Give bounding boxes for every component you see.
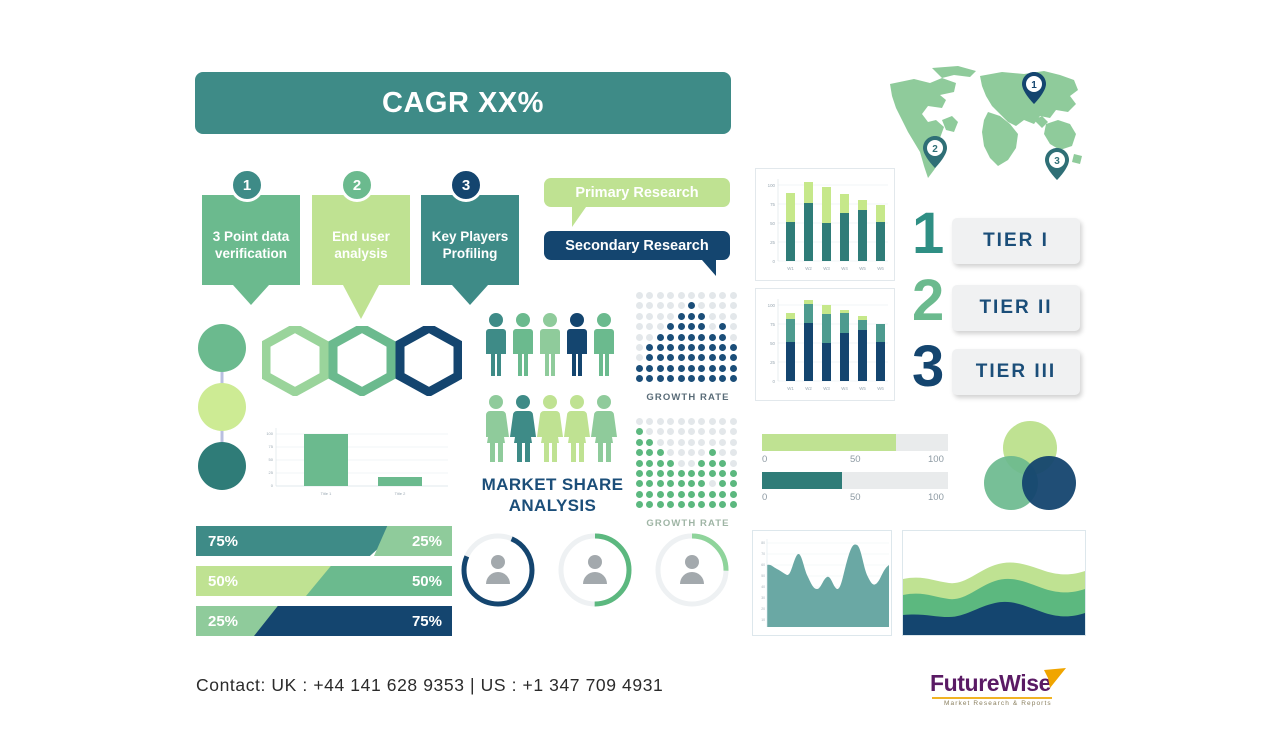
growth-dot-empty <box>730 428 737 435</box>
growth-dot-filled <box>667 501 674 508</box>
growth-dot-empty <box>698 292 705 299</box>
growth-dot-empty <box>709 428 716 435</box>
growth-dot-filled <box>657 491 664 498</box>
venn-circle-3 <box>1022 456 1076 510</box>
growth-dot-filled <box>719 365 726 372</box>
step-badge-1-number: 1 <box>243 177 251 194</box>
svg-text:W5: W5 <box>859 266 866 271</box>
growth-dot-empty <box>636 344 643 351</box>
growth-dot-empty <box>678 302 685 309</box>
person-female-icon-3 <box>537 395 563 462</box>
growth-dot-filled <box>646 501 653 508</box>
growth-dot-filled <box>688 480 695 487</box>
cagr-banner-title: CAGR XX% <box>382 87 544 120</box>
growth-dot-filled <box>719 470 726 477</box>
growth-dot-filled <box>688 365 695 372</box>
growth-dot-empty <box>688 292 695 299</box>
growth-dot-filled <box>709 501 716 508</box>
growth-dot-filled <box>667 354 674 361</box>
growth-dot-empty <box>709 439 716 446</box>
person-male-icon-2 <box>513 313 533 376</box>
svg-text:60: 60 <box>761 563 765 567</box>
svg-text:25: 25 <box>770 360 775 365</box>
market-share-title-line1: MARKET SHARE <box>470 474 635 495</box>
tier-3-number: 3 <box>912 338 944 396</box>
slider-2-track[interactable] <box>762 472 948 489</box>
secondary-research-bubble-tail <box>702 260 716 276</box>
growth-dot-filled <box>667 375 674 382</box>
growth-dot-empty <box>636 323 643 330</box>
svg-text:50: 50 <box>269 457 274 462</box>
growth-dot-filled <box>657 460 664 467</box>
growth-dot-empty <box>719 302 726 309</box>
growth-dot-empty <box>709 418 716 425</box>
growth-dot-empty <box>636 292 643 299</box>
growth-dot-empty <box>719 428 726 435</box>
svg-text:0: 0 <box>773 379 776 384</box>
growth-dot-filled <box>698 491 705 498</box>
stacked-bar-chart-bottom: 02550 75100 W1W2W3 W4W5W6 <box>755 288 895 401</box>
growth-dot-filled <box>667 470 674 477</box>
svg-text:75: 75 <box>269 444 274 449</box>
person-female-icon-5 <box>591 395 617 462</box>
growth-dot-filled <box>730 344 737 351</box>
person-female-icon-1 <box>486 395 509 462</box>
step-card-1-label: 3 Point data verification <box>202 229 300 263</box>
growth-dot-filled <box>730 365 737 372</box>
svg-text:75: 75 <box>770 202 775 207</box>
growth-dot-filled <box>657 470 664 477</box>
percent-bar-1-right: 25% <box>374 526 452 556</box>
stacked-bar-chart-top: 02550 75100 W1W2W3 W4W5W6 <box>755 168 895 281</box>
small-bar-chart: 02550 75100 Title 1Title 2 <box>258 420 452 502</box>
growth-dot-empty <box>646 292 653 299</box>
growth-dot-filled <box>646 460 653 467</box>
growth-dot-filled <box>678 334 685 341</box>
growth-dot-empty <box>730 313 737 320</box>
growth-dot-filled <box>657 501 664 508</box>
slider-1-tick-min: 0 <box>762 454 767 465</box>
venn-diagram <box>980 420 1080 516</box>
growth-dot-filled <box>719 375 726 382</box>
growth-dot-empty <box>667 292 674 299</box>
tier-1-plate[interactable]: TIER I <box>952 218 1080 264</box>
growth-dot-filled <box>709 449 716 456</box>
donut-1 <box>458 530 538 610</box>
growth-dot-filled <box>709 365 716 372</box>
growth-dot-filled <box>678 354 685 361</box>
hexagon-3-icon <box>400 328 458 392</box>
percent-bar-row-3: 25% 75% <box>196 606 442 636</box>
svg-text:25: 25 <box>770 240 775 245</box>
growth-dot-filled <box>698 313 705 320</box>
growth-dot-filled <box>646 480 653 487</box>
growth-dot-filled <box>688 501 695 508</box>
growth-dot-filled <box>646 491 653 498</box>
growth-dot-filled <box>688 344 695 351</box>
growth-dot-filled <box>678 313 685 320</box>
step-card-1[interactable]: 3 Point data verification <box>202 195 300 305</box>
tier-3-label: TIER III <box>976 361 1056 383</box>
secondary-research-bubble[interactable]: Secondary Research <box>544 231 730 260</box>
growth-dot-empty <box>698 428 705 435</box>
step-card-1-tail <box>233 285 269 305</box>
growth-dot-filled <box>646 439 653 446</box>
svg-text:30: 30 <box>761 596 765 600</box>
growth-dot-filled <box>719 501 726 508</box>
growth-dot-empty <box>678 449 685 456</box>
slider-group: 0 50 100 0 50 100 <box>762 434 948 500</box>
growth-dot-filled <box>698 470 705 477</box>
growth-dot-filled <box>636 470 643 477</box>
growth-dot-filled <box>688 334 695 341</box>
growth-dot-filled <box>730 354 737 361</box>
step-badge-1: 1 <box>230 168 264 202</box>
growth-dot-filled <box>646 375 653 382</box>
percent-bar-1-left-value: 75% <box>208 533 238 550</box>
svg-text:10: 10 <box>761 618 765 622</box>
percent-bar-3-right-value: 75% <box>412 613 442 630</box>
logo-swoosh-icon <box>1042 668 1068 690</box>
svg-text:70: 70 <box>761 552 765 556</box>
growth-dot-empty <box>688 428 695 435</box>
growth-dot-empty <box>657 292 664 299</box>
area-chart-teal: 807060 504030 2010 <box>752 530 892 636</box>
svg-text:50: 50 <box>761 574 765 578</box>
growth-dot-empty <box>657 302 664 309</box>
growth-dot-filled <box>719 460 726 467</box>
growth-dot-filled <box>678 323 685 330</box>
person-female-icon-4 <box>564 395 590 462</box>
slider-2-fill <box>762 472 842 489</box>
growth-dot-empty <box>667 439 674 446</box>
growth-dot-empty <box>667 418 674 425</box>
growth-dot-filled <box>646 470 653 477</box>
growth-dot-filled <box>667 365 674 372</box>
stacked-bar-chart-top-svg: 02550 75100 W1W2W3 W4W5W6 <box>756 169 894 280</box>
growth-dot-filled <box>719 323 726 330</box>
growth-dot-filled <box>688 323 695 330</box>
small-bar-1 <box>304 434 348 486</box>
growth-dot-empty <box>646 302 653 309</box>
growth-dot-filled <box>657 365 664 372</box>
growth-dot-empty <box>698 449 705 456</box>
svg-text:80: 80 <box>761 541 765 545</box>
growth-dot-empty <box>730 449 737 456</box>
growth-dot-empty <box>678 292 685 299</box>
step-card-3-label: Key Players Profiling <box>421 229 519 263</box>
stacked-bar-chart-bottom-svg: 02550 75100 W1W2W3 W4W5W6 <box>756 289 894 400</box>
growth-dot-filled <box>698 344 705 351</box>
growth-dot-empty <box>678 439 685 446</box>
growth-dot-filled <box>698 334 705 341</box>
growth-dot-empty <box>730 460 737 467</box>
growth-dot-empty <box>698 439 705 446</box>
svg-text:20: 20 <box>761 607 765 611</box>
growth-dot-empty <box>678 428 685 435</box>
svg-text:50: 50 <box>770 221 775 226</box>
growth-dot-filled <box>698 375 705 382</box>
growth-dot-empty <box>688 418 695 425</box>
growth-dot-filled <box>698 323 705 330</box>
growth-dot-filled <box>709 491 716 498</box>
slider-2-tick-mid: 50 <box>850 492 861 503</box>
growth-dot-filled <box>636 460 643 467</box>
growth-dot-filled <box>698 480 705 487</box>
growth-dot-filled <box>688 354 695 361</box>
circle-stack <box>196 322 248 492</box>
svg-text:W4: W4 <box>841 386 848 391</box>
step-card-3[interactable]: Key Players Profiling <box>421 195 519 305</box>
growth-dot-empty <box>636 302 643 309</box>
step-badge-2-number: 2 <box>353 177 361 194</box>
person-avatar-icon-2 <box>583 555 607 584</box>
growth-dot-filled <box>636 491 643 498</box>
growth-dot-empty <box>636 354 643 361</box>
step-card-2[interactable]: End user analysis <box>312 195 410 319</box>
world-map: 1 2 3 <box>884 62 1086 190</box>
svg-text:W3: W3 <box>823 266 830 271</box>
percent-bar-1-left: 75% <box>196 526 403 556</box>
donut-2 <box>555 530 635 610</box>
market-share-title-line2: ANALYSIS <box>470 495 635 516</box>
small-bar-2 <box>378 477 422 486</box>
growth-dot-filled <box>678 375 685 382</box>
growth-dot-filled <box>688 470 695 477</box>
growth-dot-filled <box>657 480 664 487</box>
growth-dot-filled <box>667 460 674 467</box>
svg-text:3: 3 <box>1054 156 1060 167</box>
growth-dot-empty <box>709 480 716 487</box>
area-chart-stacked <box>902 530 1086 636</box>
growth-dot-filled <box>698 365 705 372</box>
svg-text:Title 1: Title 1 <box>321 491 333 496</box>
growth-dot-filled <box>719 491 726 498</box>
slider-1-fill <box>762 434 896 451</box>
growth-dot-filled <box>657 354 664 361</box>
growth-dot-empty <box>657 428 664 435</box>
growth-dot-filled <box>730 375 737 382</box>
growth-dot-filled <box>646 344 653 351</box>
growth-dot-filled <box>719 480 726 487</box>
svg-text:75: 75 <box>770 322 775 327</box>
svg-text:2: 2 <box>932 144 938 155</box>
growth-dot-empty <box>719 439 726 446</box>
growth-dot-empty <box>646 323 653 330</box>
market-share-title: MARKET SHARE ANALYSIS <box>470 474 635 517</box>
step-badge-3-number: 3 <box>462 177 470 194</box>
percent-bar-3-right: 75% <box>254 606 452 636</box>
growth-dot-empty <box>688 460 695 467</box>
svg-text:100: 100 <box>266 431 273 436</box>
growth-dot-empty <box>730 418 737 425</box>
growth-dot-empty <box>657 313 664 320</box>
growth-dot-empty <box>636 334 643 341</box>
circle-stack-2 <box>198 383 246 431</box>
svg-text:50: 50 <box>770 341 775 346</box>
growth-dot-empty <box>730 334 737 341</box>
svg-text:0: 0 <box>773 259 776 264</box>
svg-text:W2: W2 <box>805 386 812 391</box>
growth-dot-empty <box>719 449 726 456</box>
step-card-2-label: End user analysis <box>312 229 410 263</box>
growth-dot-empty <box>646 428 653 435</box>
growth-dot-filled <box>667 323 674 330</box>
people-group <box>486 312 618 470</box>
growth-dot-empty <box>657 418 664 425</box>
growth-dot-filled <box>688 375 695 382</box>
growth-dot-empty <box>719 292 726 299</box>
slider-1-tick-mid: 50 <box>850 454 861 465</box>
cagr-banner: CAGR XX% <box>195 72 731 134</box>
contact-text: Contact: UK : +44 141 628 9353 | US : +1… <box>196 675 663 696</box>
growth-dot-empty <box>657 323 664 330</box>
growth-dot-empty <box>678 460 685 467</box>
slider-1-track[interactable] <box>762 434 948 451</box>
growth-dot-filled <box>709 344 716 351</box>
growth-dot-filled <box>688 313 695 320</box>
small-bar-chart-svg: 02550 75100 Title 1Title 2 <box>258 420 452 502</box>
growth-dot-filled <box>678 365 685 372</box>
growth-dot-filled <box>657 375 664 382</box>
growth-dot-filled <box>636 501 643 508</box>
growth-dot-empty <box>719 313 726 320</box>
primary-research-bubble[interactable]: Primary Research <box>544 178 730 207</box>
growth-dot-empty <box>709 302 716 309</box>
person-avatar-icon-3 <box>680 555 704 584</box>
person-male-icon-3 <box>540 313 560 376</box>
tier-3-plate[interactable]: TIER III <box>952 349 1080 395</box>
growth-rate-label-1: GROWTH RATE <box>630 392 746 403</box>
growth-dot-filled <box>636 449 643 456</box>
circle-stack-3 <box>198 442 246 490</box>
growth-dot-filled <box>657 449 664 456</box>
growth-rate-label-2: GROWTH RATE <box>630 518 746 529</box>
logo-name-part1: Future <box>930 670 999 696</box>
growth-dot-filled <box>636 428 643 435</box>
tier-2-number: 2 <box>912 272 944 330</box>
svg-text:W1: W1 <box>787 266 794 271</box>
growth-dot-filled <box>709 334 716 341</box>
growth-dot-filled <box>678 344 685 351</box>
growth-dot-filled <box>678 480 685 487</box>
growth-dot-filled <box>698 354 705 361</box>
growth-dot-empty <box>730 292 737 299</box>
svg-text:40: 40 <box>761 585 765 589</box>
svg-text:W1: W1 <box>787 386 794 391</box>
growth-dot-filled <box>730 480 737 487</box>
percent-bar-row-2: 50% 50% <box>196 566 442 596</box>
person-female-icon-2 <box>510 395 536 462</box>
person-male-icon-5 <box>594 313 614 376</box>
slider-2-tick-min: 0 <box>762 492 767 503</box>
growth-dot-filled <box>667 480 674 487</box>
percent-bar-row-1: 75% 25% <box>196 526 442 556</box>
svg-text:0: 0 <box>271 483 274 488</box>
svg-text:Title 2: Title 2 <box>395 491 407 496</box>
svg-text:100: 100 <box>768 303 776 308</box>
svg-text:W5: W5 <box>859 386 866 391</box>
growth-dot-filled <box>719 334 726 341</box>
growth-dot-filled <box>678 501 685 508</box>
growth-dot-empty <box>709 323 716 330</box>
step-card-3-tail <box>452 285 488 305</box>
infographic-canvas: CAGR XX% 3 Point data verification 1 End… <box>0 0 1280 731</box>
tier-2-label: TIER II <box>979 297 1052 319</box>
growth-dot-filled <box>667 344 674 351</box>
growth-dot-empty <box>667 313 674 320</box>
svg-text:1: 1 <box>1031 80 1037 91</box>
growth-dot-filled <box>709 460 716 467</box>
percent-bar-2-left-value: 50% <box>208 573 238 590</box>
growth-dot-filled <box>636 439 643 446</box>
circle-stack-1 <box>198 324 246 372</box>
futurewise-logo[interactable]: FutureWise Market Research & Reports <box>930 670 1062 710</box>
slider-1-tick-max: 100 <box>928 454 944 465</box>
growth-dot-empty <box>709 292 716 299</box>
svg-text:W6: W6 <box>877 266 884 271</box>
growth-dot-filled <box>698 460 705 467</box>
growth-dot-filled <box>636 480 643 487</box>
growth-dot-filled <box>730 491 737 498</box>
hexagon-group <box>262 326 462 396</box>
svg-text:W3: W3 <box>823 386 830 391</box>
growth-dot-empty <box>698 418 705 425</box>
growth-dot-empty <box>698 302 705 309</box>
area-chart-teal-svg: 807060 504030 2010 <box>753 531 891 635</box>
person-male-icon-4 <box>567 313 587 376</box>
svg-text:W6: W6 <box>877 386 884 391</box>
primary-research-bubble-tail <box>572 207 586 227</box>
growth-dot-filled <box>667 334 674 341</box>
tier-2-plate[interactable]: TIER II <box>952 285 1080 331</box>
growth-dot-filled <box>688 491 695 498</box>
growth-dot-filled <box>709 375 716 382</box>
growth-dot-filled <box>730 470 737 477</box>
logo-tagline: Market Research & Reports <box>944 700 1052 707</box>
svg-text:W2: W2 <box>805 266 812 271</box>
growth-dot-filled <box>646 354 653 361</box>
percent-bar-2-right: 50% <box>306 566 452 596</box>
growth-dot-filled <box>667 491 674 498</box>
growth-dot-filled <box>678 470 685 477</box>
growth-dot-empty <box>667 449 674 456</box>
primary-research-label: Primary Research <box>575 185 698 201</box>
map-pin-3-icon: 3 <box>1045 148 1069 180</box>
growth-rate-matrix-1 <box>636 292 740 384</box>
growth-dot-filled <box>719 354 726 361</box>
growth-dot-filled <box>657 334 664 341</box>
growth-dot-empty <box>730 302 737 309</box>
percent-bar-1-right-value: 25% <box>412 533 442 550</box>
person-avatar-icon-1 <box>486 555 510 584</box>
person-male-icon-1 <box>486 313 506 376</box>
growth-dot-empty <box>636 418 643 425</box>
tier-1-number: 1 <box>912 205 944 263</box>
growth-dot-filled <box>709 470 716 477</box>
growth-dot-empty <box>667 302 674 309</box>
step-badge-3: 3 <box>449 168 483 202</box>
tier-1-label: TIER I <box>983 230 1049 252</box>
growth-dot-empty <box>646 334 653 341</box>
growth-rate-matrix-2 <box>636 418 740 510</box>
growth-dot-empty <box>688 439 695 446</box>
growth-dot-filled <box>688 302 695 309</box>
growth-dot-filled <box>646 449 653 456</box>
slider-2-tick-max: 100 <box>928 492 944 503</box>
growth-dot-filled <box>657 344 664 351</box>
svg-text:25: 25 <box>269 470 274 475</box>
